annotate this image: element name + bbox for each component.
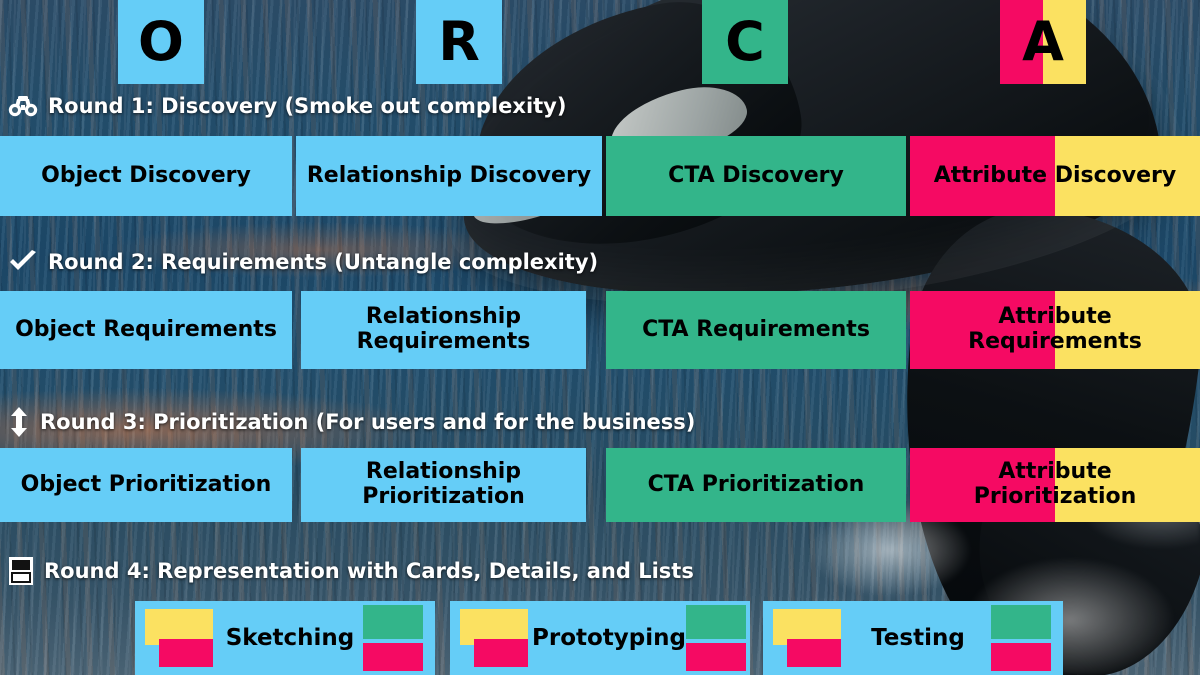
cell-object-prioritization[interactable]: Object Prioritization — [0, 448, 292, 522]
round-title: Round 1: Discovery (Smoke out complexity… — [48, 94, 566, 118]
pink-swatch — [787, 639, 841, 667]
up-down-arrow-icon — [8, 407, 30, 437]
cell-cta-discovery[interactable]: CTA Discovery — [606, 136, 906, 216]
acronym-letter: R — [438, 15, 480, 69]
card-sketching[interactable]: Sketching — [135, 601, 435, 675]
round-1-row: Object Discovery Relationship Discovery … — [0, 136, 1200, 216]
round-3-row: Object Prioritization Relationship Prior… — [0, 448, 1200, 522]
cell-cta-prioritization[interactable]: CTA Prioritization — [606, 448, 906, 522]
cell-label: Attribute Discovery — [934, 164, 1176, 189]
pink-swatch — [991, 643, 1051, 671]
pink-swatch — [159, 639, 213, 667]
acronym-tile-c: C — [702, 0, 788, 84]
cell-label: Object Requirements — [15, 318, 277, 343]
card-label: Prototyping — [532, 625, 686, 651]
sketch-swatch-right — [363, 605, 425, 671]
card-testing[interactable]: Testing — [763, 601, 1063, 675]
cell-label: CTA Discovery — [668, 164, 844, 189]
pink-swatch — [363, 643, 423, 671]
cell-label: Object Discovery — [41, 164, 251, 189]
cell-label: Relationship Prioritization — [307, 460, 580, 509]
cell-label: CTA Prioritization — [648, 473, 865, 498]
acronym-tile-a: A — [1000, 0, 1086, 84]
cell-cta-requirements[interactable]: CTA Requirements — [606, 291, 906, 369]
cell-label: CTA Requirements — [642, 318, 870, 343]
pink-swatch — [474, 639, 528, 667]
cell-object-discovery[interactable]: Object Discovery — [0, 136, 292, 216]
round-title: Round 4: Representation with Cards, Deta… — [44, 559, 694, 583]
acronym-letter: A — [1022, 15, 1064, 69]
binoculars-icon — [8, 95, 38, 117]
checkmark-icon — [8, 250, 38, 274]
green-swatch — [363, 605, 423, 639]
orca-framework-slide: O R C A Round 1: Discovery (Smo — [0, 0, 1200, 675]
cell-label: Relationship Discovery — [307, 164, 591, 189]
cell-label: Object Prioritization — [21, 473, 272, 498]
round-4-header: Round 4: Representation with Cards, Deta… — [8, 556, 694, 586]
cell-relationship-requirements[interactable]: Relationship Requirements — [301, 291, 586, 369]
cell-label: Attribute Prioritization — [916, 460, 1194, 509]
green-swatch — [686, 605, 746, 639]
acronym-tile-r: R — [416, 0, 502, 84]
acronym-letter: O — [138, 15, 184, 69]
card-label: Testing — [871, 625, 965, 651]
acronym-tile-o: O — [118, 0, 204, 84]
testing-swatch-right — [991, 605, 1053, 671]
round-2-header: Round 2: Requirements (Untangle complexi… — [8, 250, 598, 274]
round-2-row: Object Requirements Relationship Require… — [0, 291, 1200, 369]
pink-swatch — [686, 643, 746, 671]
cell-label: Relationship Requirements — [307, 305, 580, 354]
acronym-letter: C — [725, 15, 765, 69]
round-title: Round 3: Prioritization (For users and f… — [40, 410, 695, 434]
cell-attribute-prioritization[interactable]: Attribute Prioritization — [910, 448, 1200, 522]
round-1-header: Round 1: Discovery (Smoke out complexity… — [8, 94, 566, 118]
cell-label: Attribute Requirements — [916, 305, 1194, 354]
cell-attribute-discovery[interactable]: Attribute Discovery — [910, 136, 1200, 216]
cell-attribute-requirements[interactable]: Attribute Requirements — [910, 291, 1200, 369]
prototype-swatch-right — [686, 605, 748, 671]
card-prototyping[interactable]: Prototyping — [450, 601, 750, 675]
round-3-header: Round 3: Prioritization (For users and f… — [8, 407, 695, 437]
round-title: Round 2: Requirements (Untangle complexi… — [48, 250, 598, 274]
sketch-swatch-left — [145, 607, 217, 669]
card-label: Sketching — [226, 625, 355, 651]
prototype-swatch-left — [460, 607, 532, 669]
card-layout-icon — [8, 556, 34, 586]
acronym-row: O R C A — [0, 0, 1200, 84]
cell-relationship-discovery[interactable]: Relationship Discovery — [296, 136, 602, 216]
cell-object-requirements[interactable]: Object Requirements — [0, 291, 292, 369]
green-swatch — [991, 605, 1051, 639]
cell-relationship-prioritization[interactable]: Relationship Prioritization — [301, 448, 586, 522]
testing-swatch-left — [773, 607, 845, 669]
round-4-row: Sketching Prototyping Testing — [0, 601, 1200, 675]
